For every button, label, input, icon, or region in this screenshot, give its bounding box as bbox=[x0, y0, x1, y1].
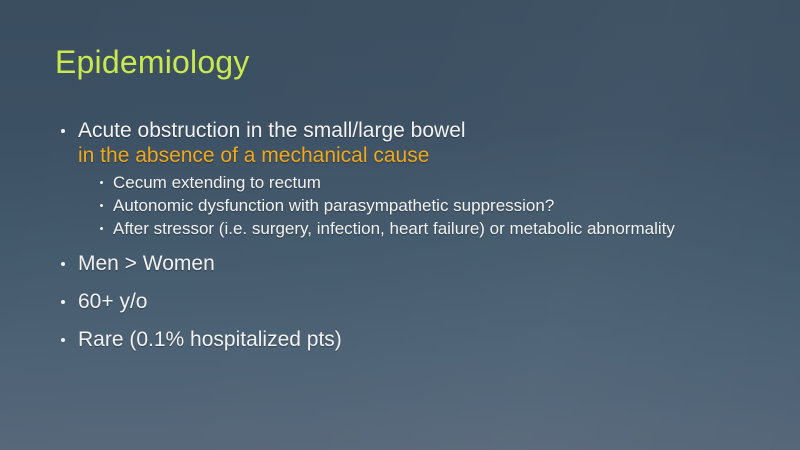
bullet-dot-icon bbox=[61, 262, 65, 266]
sub-bullet-text: Cecum extending to rectum bbox=[113, 173, 321, 192]
bullet-item: Rare (0.1% hospitalized pts) bbox=[56, 327, 746, 352]
sub-bullet-item: Cecum extending to rectum bbox=[96, 173, 746, 193]
bullet-dot-icon bbox=[100, 204, 103, 207]
bullet-item: Acute obstruction in the small/large bow… bbox=[56, 118, 746, 168]
bullet-dot-icon bbox=[100, 227, 103, 230]
bullet-text: Men > Women bbox=[78, 252, 215, 275]
bullet-text: Rare (0.1% hospitalized pts) bbox=[78, 328, 342, 351]
bullet-item: 60+ y/o bbox=[56, 289, 746, 314]
bullet-item: Men > Women bbox=[56, 251, 746, 276]
slide-title: Epidemiology bbox=[55, 43, 250, 81]
sub-bullet-text: Autonomic dysfunction with parasympathet… bbox=[113, 196, 554, 215]
bullet-dot-icon bbox=[100, 181, 103, 184]
presentation-slide: Epidemiology Acute obstruction in the sm… bbox=[0, 0, 800, 450]
slide-body: Acute obstruction in the small/large bow… bbox=[56, 118, 746, 354]
bullet-text: 60+ y/o bbox=[78, 290, 147, 313]
bullet-dot-icon bbox=[61, 300, 65, 304]
sub-bullet-item: After stressor (i.e. surgery, infection,… bbox=[96, 219, 746, 239]
bullet-text: Acute obstruction in the small/large bow… bbox=[78, 119, 466, 142]
sub-bullet-list: Cecum extending to rectum Autonomic dysf… bbox=[56, 173, 746, 239]
bullet-dot-icon bbox=[61, 129, 65, 133]
sub-bullet-text: After stressor (i.e. surgery, infection,… bbox=[113, 219, 675, 238]
bullet-emphasis-text: in the absence of a mechanical cause bbox=[78, 143, 746, 168]
bullet-dot-icon bbox=[61, 338, 65, 342]
sub-bullet-item: Autonomic dysfunction with parasympathet… bbox=[96, 196, 746, 216]
